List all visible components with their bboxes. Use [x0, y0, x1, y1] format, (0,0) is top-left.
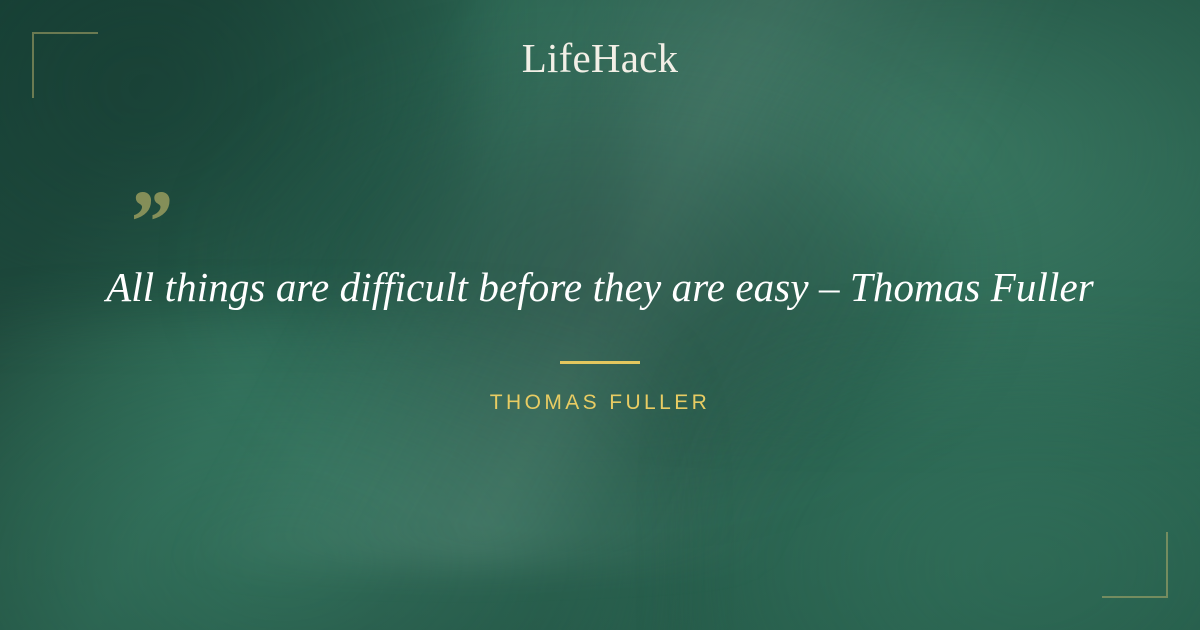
quote-text: All things are difficult before they are…: [70, 262, 1130, 314]
quote-author: THOMAS FULLER: [0, 391, 1200, 415]
quote-content: All things are difficult before they are…: [0, 262, 1200, 415]
divider-rule: [560, 361, 640, 364]
quotation-mark-icon: ”: [126, 178, 171, 268]
quote-card: LifeHack ” All things are difficult befo…: [0, 0, 1200, 630]
lifehack-logo[interactable]: LifeHack: [0, 38, 1200, 79]
